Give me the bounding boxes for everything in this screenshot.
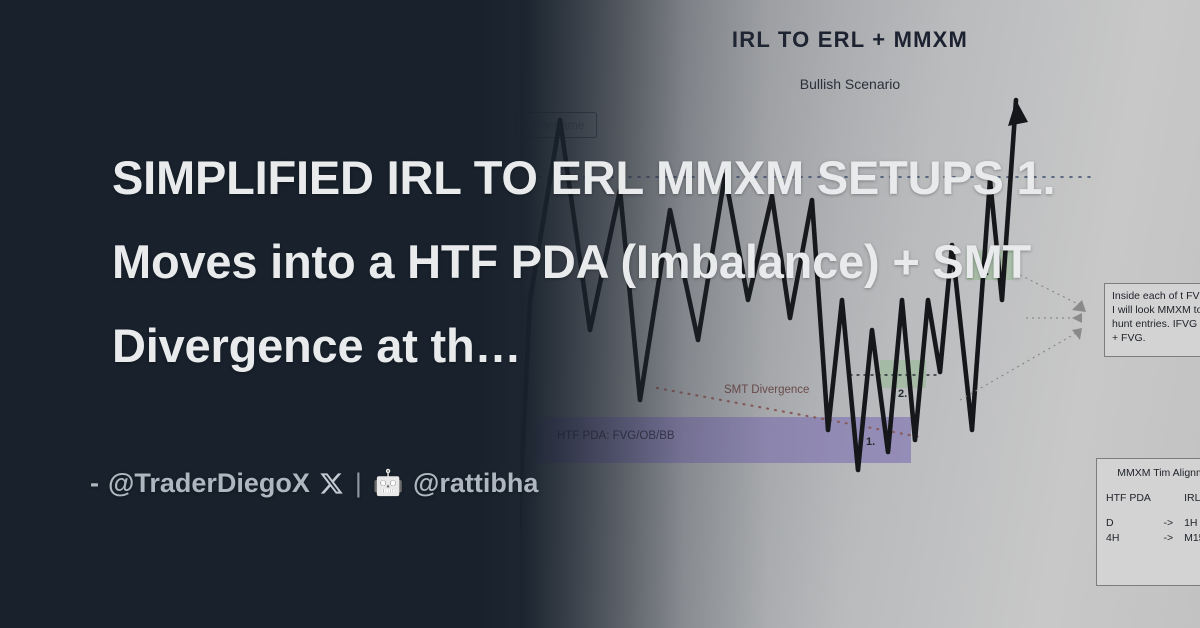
author-handle[interactable]: @TraderDiegoX xyxy=(108,468,310,499)
page-title: SIMPLIFIED IRL TO ERL MMXM SETUPS 1. Mov… xyxy=(112,136,1188,388)
source-handle[interactable]: @rattibha xyxy=(413,468,538,499)
robot-icon: 🤖 xyxy=(373,471,404,496)
byline-dash: - xyxy=(90,468,99,499)
byline: - @TraderDiegoX | 🤖 @rattibha xyxy=(90,468,538,499)
x-logo-icon[interactable] xyxy=(319,471,344,496)
social-share-card: IRL TO ERL + MMXM Bullish Scenario Timef… xyxy=(0,0,1200,628)
byline-separator: | xyxy=(353,468,364,499)
